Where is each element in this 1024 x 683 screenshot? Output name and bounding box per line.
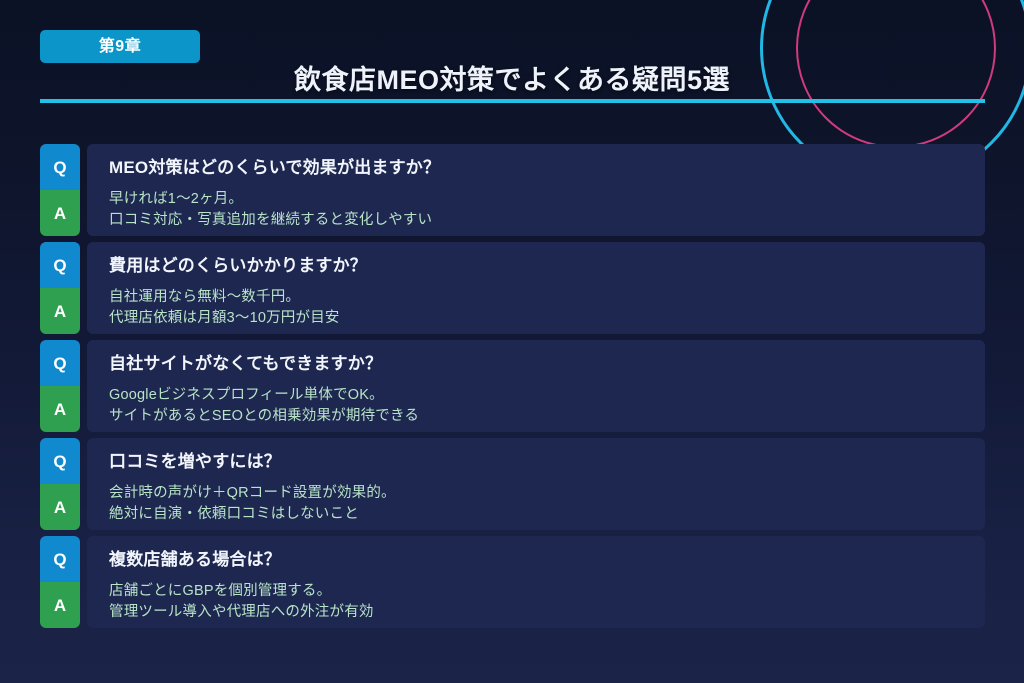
answer-badge: A — [40, 582, 80, 628]
faq-answer: 自社運用なら無料〜数千円。 代理店依頼は月額3〜10万円が目安 — [109, 287, 965, 328]
chapter-badge-label: 第9章 — [99, 39, 141, 55]
faq-card: Q A 複数店舗ある場合は？ 店舗ごとにGBPを個別管理する。 管理ツール導入や… — [40, 536, 985, 628]
question-badge: Q — [40, 340, 80, 386]
answer-badge: A — [40, 190, 80, 236]
faq-card-body: 複数店舗ある場合は？ 店舗ごとにGBPを個別管理する。 管理ツール導入や代理店へ… — [87, 536, 985, 628]
qa-badge-column: Q A — [40, 242, 80, 334]
answer-badge: A — [40, 386, 80, 432]
slide-root: 第9章 飲食店MEO対策でよくある疑問5選 Q A MEO対策はどのくらいで効果… — [0, 0, 1024, 683]
qa-badge-column: Q A — [40, 438, 80, 530]
faq-question: MEO対策はどのくらいで効果が出ますか？ — [109, 157, 965, 178]
faq-answer: Googleビジネスプロフィール単体でOK。 サイトがあるとSEOとの相乗効果が… — [109, 385, 965, 426]
faq-card: Q A MEO対策はどのくらいで効果が出ますか？ 早ければ1〜2ヶ月。 口コミ対… — [40, 144, 985, 236]
qa-badge-column: Q A — [40, 144, 80, 236]
question-badge: Q — [40, 144, 80, 190]
faq-card: Q A 口コミを増やすには？ 会計時の声がけ＋QRコード設置が効果的。 絶対に自… — [40, 438, 985, 530]
faq-list: Q A MEO対策はどのくらいで効果が出ますか？ 早ければ1〜2ヶ月。 口コミ対… — [40, 144, 985, 634]
faq-question: 自社サイトがなくてもできますか？ — [109, 353, 965, 374]
faq-question: 口コミを増やすには？ — [109, 451, 965, 472]
faq-answer: 早ければ1〜2ヶ月。 口コミ対応・写真追加を継続すると変化しやすい — [109, 189, 965, 230]
faq-card-body: 費用はどのくらいかかりますか？ 自社運用なら無料〜数千円。 代理店依頼は月額3〜… — [87, 242, 985, 334]
question-badge: Q — [40, 438, 80, 484]
answer-badge: A — [40, 484, 80, 530]
question-badge: Q — [40, 242, 80, 288]
faq-answer: 会計時の声がけ＋QRコード設置が効果的。 絶対に自演・依頼口コミはしないこと — [109, 483, 965, 524]
faq-question: 複数店舗ある場合は？ — [109, 549, 965, 570]
chapter-badge: 第9章 — [40, 30, 200, 63]
faq-card: Q A 自社サイトがなくてもできますか？ Googleビジネスプロフィール単体で… — [40, 340, 985, 432]
qa-badge-column: Q A — [40, 536, 80, 628]
faq-card-body: 自社サイトがなくてもできますか？ Googleビジネスプロフィール単体でOK。 … — [87, 340, 985, 432]
question-badge: Q — [40, 536, 80, 582]
page-title: 飲食店MEO対策でよくある疑問5選 — [0, 64, 1024, 96]
faq-card: Q A 費用はどのくらいかかりますか？ 自社運用なら無料〜数千円。 代理店依頼は… — [40, 242, 985, 334]
faq-card-body: MEO対策はどのくらいで効果が出ますか？ 早ければ1〜2ヶ月。 口コミ対応・写真… — [87, 144, 985, 236]
title-divider — [40, 99, 985, 103]
faq-question: 費用はどのくらいかかりますか？ — [109, 255, 965, 276]
qa-badge-column: Q A — [40, 340, 80, 432]
answer-badge: A — [40, 288, 80, 334]
faq-card-body: 口コミを増やすには？ 会計時の声がけ＋QRコード設置が効果的。 絶対に自演・依頼… — [87, 438, 985, 530]
faq-answer: 店舗ごとにGBPを個別管理する。 管理ツール導入や代理店への外注が有効 — [109, 581, 965, 622]
slide-header: 第9章 飲食店MEO対策でよくある疑問5選 — [0, 0, 1024, 112]
